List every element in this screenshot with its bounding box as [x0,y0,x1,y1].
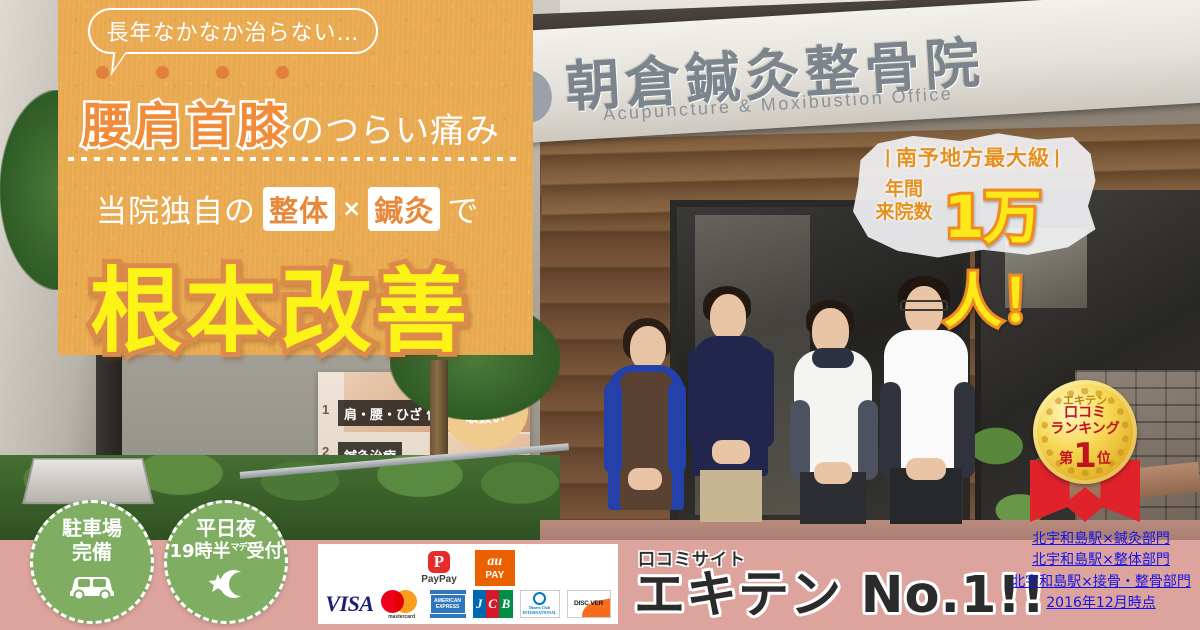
medal-rank: 第1位 [1020,436,1150,476]
mastercard-logo-icon: mastercard [381,589,423,619]
pain-headline-tail: のつらい痛み [290,111,500,151]
payment-row-ewallets: P PayPay au PAY [421,550,515,586]
discover-logo-icon: DISC VER [567,590,611,618]
ranking-link-3[interactable]: 北宇和島駅×接骨・整骨部門 [1011,574,1191,590]
method-separator: × [342,196,361,222]
badge-parking[interactable]: 駐車場 完備 [30,500,154,624]
diners-label: Diners Club INTERNATIONAL [521,606,559,615]
jcb-logo-icon: J C B [473,590,513,618]
medal-category-line2: ランキング [1020,421,1150,437]
amex-label: AMERICAN EXPRESS [430,594,466,614]
speech-bubble-tail [111,52,128,76]
paypay-logo-icon: P PayPay [421,551,457,585]
hours-reception: 受付 [247,541,283,562]
jcb-letter-c: C [486,590,499,618]
ekiten-headline: エキテン No.1!! [634,570,1046,623]
visitors-label-line1: 年間 [864,178,944,201]
visitors-label-line2: 来院数 [864,201,944,224]
slash-right-icon: / [1050,145,1066,171]
ranking-link-1[interactable]: 北宇和島駅×鍼灸部門 [1032,531,1170,547]
jcb-letter-b: B [499,590,512,618]
method-suffix: で [447,186,479,231]
visitors-badge-top-text: \南予地方最大級/ [848,142,1098,172]
emphasis-dots [90,66,410,80]
ranking-link-date[interactable]: 2016年12月時点 [1046,595,1155,611]
parking-line2: 完備 [72,541,112,565]
car-icon [64,570,120,605]
jcb-letter-j: J [473,590,486,618]
eyeglasses-icon [900,300,948,311]
visitors-badge-label: 年間 来院数 [864,178,944,224]
visitors-badge-value: 1万人！ [944,170,1098,338]
aupay-logo-icon: au PAY [475,550,515,586]
payment-methods-box: P PayPay au PAY VISA mastercard AMERICAN… [318,544,618,624]
amex-logo-icon: AMERICAN EXPRESS [430,590,466,618]
clinic-hero-banner: 朝倉鍼灸整骨院 Acupuncture & Moxibustion Office… [0,0,1200,630]
method-subline: 当院独自の 整体 × 鍼灸 で [96,186,479,231]
speech-bubble: 長年なかなか治らない… [88,8,378,54]
aupay-line1: au [487,555,502,569]
hours-line2: 19時半マデ受付 [169,541,282,562]
planter-box [22,458,154,504]
annual-visitors-badge: \南予地方最大級/ 年間 来院数 1万人！ [848,132,1098,260]
medal-category: 口コミ ランキング [1020,405,1150,437]
method-chip-shinkyu: 鍼灸 [368,187,440,231]
visa-logo-icon: VISA [325,591,373,617]
main-copy: 根本改善 [90,237,470,370]
medal-category-line1: 口コミ [1020,405,1150,421]
poster-row-num-1: 1 [322,402,329,417]
medal-rank-suffix: 位 [1097,451,1111,467]
ranking-category-links: 北宇和島駅×鍼灸部門 北宇和島駅×整体部門 北宇和島駅×接骨・整骨部門 2016… [1006,528,1196,613]
medal-rank-prefix: 第 [1059,451,1073,467]
ranking-link-2[interactable]: 北宇和島駅×整体部門 [1032,552,1170,568]
ekiten-ranking-medal: エキテン 口コミ ランキング 第1位 [1020,378,1150,528]
hours-time: 19時半 [169,541,230,562]
pain-headline-keyword: 腰肩首膝 [82,98,290,154]
diners-club-logo-icon: Diners Club INTERNATIONAL [520,590,560,618]
dotted-divider [68,157,523,161]
payment-row-cards: VISA mastercard AMERICAN EXPRESS J C B D… [325,589,610,619]
medal-rank-number: 1 [1073,436,1097,476]
visitors-badge-top-label: 南予地方最大級 [896,146,1050,170]
parking-line1: 駐車場 [62,517,122,541]
hours-line1: 平日夜 [196,517,256,541]
aupay-line2: PAY [485,571,504,581]
ekiten-headline-block: 口コミサイト エキテン No.1!! [634,545,1046,623]
method-chip-seitai: 整体 [263,187,335,231]
crescent-moon-star-icon [201,568,251,605]
paypay-label: PayPay [421,574,457,585]
pain-headline: 腰肩首膝のつらい痛み [82,86,500,156]
speech-bubble-text: 長年なかなか治らない… [106,15,359,47]
mastercard-label: mastercard [381,614,423,620]
badge-hours[interactable]: 平日夜 19時半マデ受付 [164,500,288,624]
slash-left-icon: \ [881,145,897,171]
paypay-mark: P [428,551,450,573]
method-prefix: 当院独自の [96,186,256,231]
hours-ruby: マデ [231,543,247,553]
discover-label: DISC VER [574,600,603,607]
